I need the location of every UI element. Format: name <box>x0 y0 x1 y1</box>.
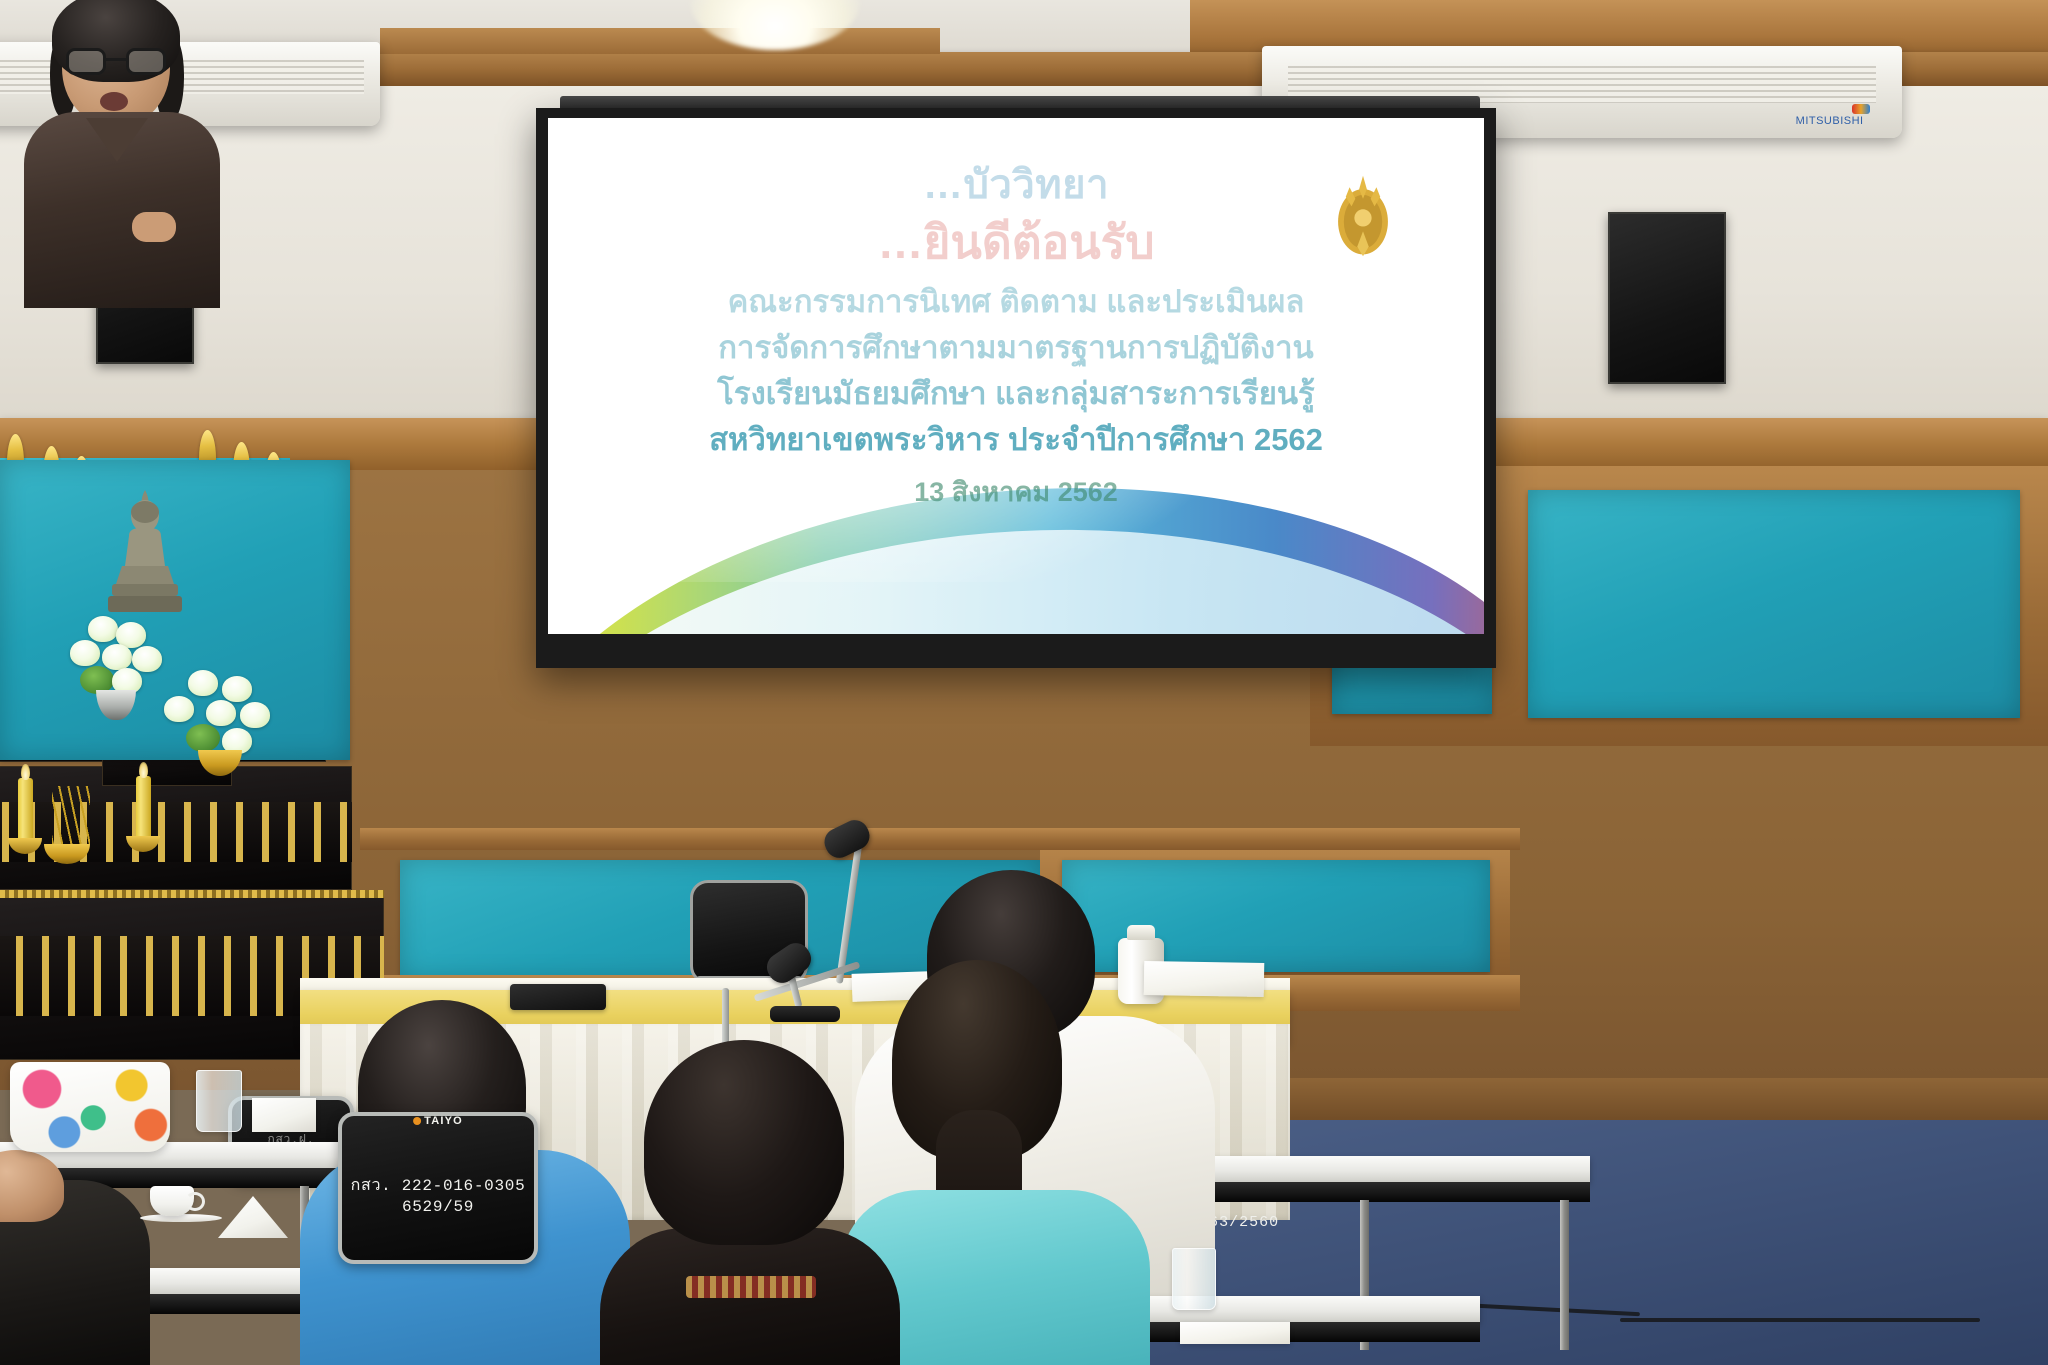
mobile-phone[interactable] <box>510 984 606 1010</box>
yellow-candle-left <box>18 778 33 842</box>
stacking-chair-front[interactable]: TAIYO กสว. 222-016-0305 6529/59 <box>338 1112 538 1264</box>
eyeglass-lens-right <box>126 48 166 75</box>
altar-lower-trim <box>0 890 384 898</box>
thai-royal-garuda-emblem <box>1334 170 1392 262</box>
chair-asset-tag: กสว. 222-016-0305 6529/59 <box>338 1176 538 1219</box>
attendee-head <box>644 1040 844 1245</box>
slide-body-line-4: สหวิทยาเขตพระวิหาร ประจำปีการศึกษา 2562 <box>595 417 1437 463</box>
desk-front-edge: ร-1563/2560 <box>1160 1182 1590 1202</box>
slide-body-line-3: โรงเรียนมัธยมศึกษา และกลุ่มสาระการเรียนร… <box>595 371 1437 417</box>
lotus-flower <box>164 696 194 722</box>
lotus-flower-bunch-right <box>160 670 300 800</box>
slide-date-line: 13 สิงหาคม 2562 <box>914 470 1118 513</box>
floor-cable <box>1620 1318 1980 1322</box>
ac-indicator-lights <box>1852 104 1870 114</box>
coffee-cup-left[interactable] <box>150 1186 194 1216</box>
slide-body-line-1: คณะกรรมการนิเทศ ติดตาม และประเมินผล <box>595 279 1437 325</box>
incense-fan <box>52 786 90 844</box>
lotus-flower <box>240 702 270 728</box>
eyeglasses-icon <box>66 48 166 76</box>
conference-room-photo: MITSUBISHI …บัววิทยา …ยินดีต้อนรับ <box>0 0 2048 1365</box>
water-glass-left[interactable] <box>196 1070 242 1132</box>
chair-asset-tag-line2: 6529/59 <box>338 1197 538 1219</box>
candle-flame <box>139 762 148 778</box>
lotus-flower <box>132 646 162 672</box>
lotus-flower <box>70 640 100 666</box>
slide-welcome-line: …ยินดีต้อนรับ <box>877 213 1154 273</box>
wall-speaker-right <box>1608 212 1726 384</box>
speaker-mouth <box>100 92 128 111</box>
desk-leg <box>1560 1200 1569 1350</box>
ceiling-beam-center <box>380 28 940 54</box>
chair-asset-tag-line1: กสว. 222-016-0305 <box>338 1176 538 1198</box>
brand-dot-icon <box>413 1117 421 1125</box>
lotus-flower <box>102 644 132 670</box>
desk-surface <box>1160 1156 1590 1182</box>
lotus-vase-right <box>198 750 242 776</box>
chair-brand-badge: TAIYO <box>413 1115 463 1127</box>
eyeglass-lens-left <box>66 48 106 75</box>
lotus-flower <box>88 616 118 642</box>
lotus-flower <box>206 700 236 726</box>
folded-napkin-left <box>252 1098 316 1132</box>
eyeglass-bridge <box>106 58 126 61</box>
candle-flame <box>21 764 30 780</box>
water-glass-right[interactable] <box>1172 1248 1216 1310</box>
wainscot-teal-panel-right <box>1528 490 2020 718</box>
attendee-edge-left <box>0 1150 150 1365</box>
attendee-head <box>0 1150 64 1222</box>
floral-print-bag <box>10 1062 170 1152</box>
attendee-woven-neckband <box>686 1276 816 1298</box>
slide-body-lines: คณะกรรมการนิเทศ ติดตาม และประเมินผล การจ… <box>595 279 1437 463</box>
projection-screen: …บัววิทยา …ยินดีต้อนรับ คณะกรรมการนิเทศ … <box>536 108 1496 668</box>
slide-body-line-2: การจัดการศึกษาตามมาตรฐานการปฏิบัติงาน <box>595 325 1437 371</box>
lotus-flower <box>188 670 218 696</box>
microphone-base <box>770 1006 840 1022</box>
lotus-vase-left <box>96 690 136 720</box>
slide-heading: …บัววิทยา <box>614 162 1419 209</box>
attendee-dark-shirt <box>600 1040 900 1365</box>
yellow-candle-right <box>136 776 151 840</box>
buddha-statue <box>108 488 182 618</box>
document-papers-front <box>1180 1322 1290 1344</box>
chair-brand-label: TAIYO <box>424 1115 463 1127</box>
lotus-leaf <box>186 724 220 752</box>
lotus-flower <box>222 676 252 702</box>
presentation-slide: …บัววิทยา …ยินดีต้อนรับ คณะกรรมการนิเทศ … <box>548 118 1484 634</box>
speaker-hand <box>132 212 176 242</box>
ac-brand-label: MITSUBISHI <box>1796 115 1864 127</box>
